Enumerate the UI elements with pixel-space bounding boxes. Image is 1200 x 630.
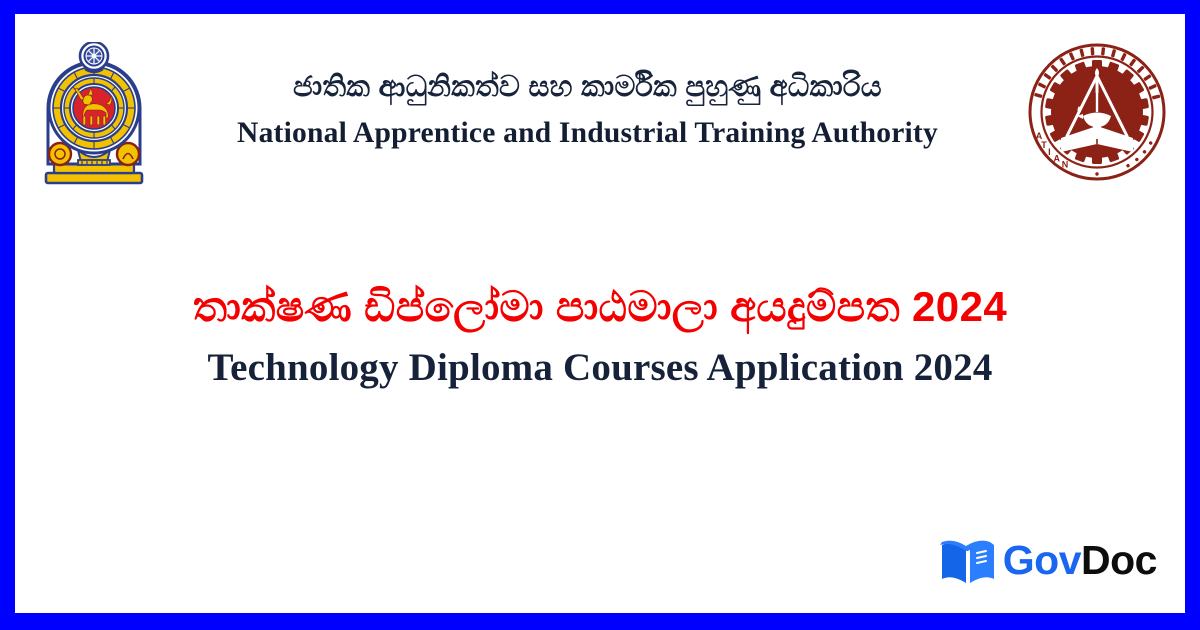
sri-lanka-national-emblem-icon [38,42,150,192]
svg-text:A: A [1053,154,1060,164]
govdoc-brand-primary: Gov [1003,537,1081,583]
govdoc-brand-secondary: Doc [1081,537,1157,583]
organization-names: ජාතික ආධුනිකත්ව සහ කාර්මික පුහුණු අධිකාර… [165,69,1010,151]
open-book-icon [939,534,997,586]
svg-text:N: N [1062,159,1069,169]
poster-canvas: N A I T A [15,14,1185,613]
govdoc-brand-text: GovDoc [1003,540,1157,581]
svg-text:T: T [1041,140,1047,150]
title-heading-english: Technology Diploma Courses Application 2… [15,346,1185,391]
organization-name-english: National Apprentice and Industrial Train… [171,116,1003,151]
title-heading-sinhala: තාක්ෂණ ඩිප්ලෝමා පාඨමාලා අයදුම්පත 2024 [15,282,1185,332]
naita-logo-icon: N A I T A [1027,42,1167,182]
organization-name-sinhala: ජාතික ආධුනිකත්ව සහ කාර්මික පුහුණු අධිකාර… [165,69,1010,106]
poster-frame: N A I T A [0,0,1200,630]
govdoc-watermark: GovDoc [939,534,1157,586]
svg-text:A: A [1036,131,1043,141]
poster-header: N A I T A [15,14,1185,204]
svg-text:I: I [1048,147,1051,157]
page-title: තාක්ෂණ ඩිප්ලෝමා පාඨමාලා අයදුම්පත 2024 Te… [15,282,1185,391]
